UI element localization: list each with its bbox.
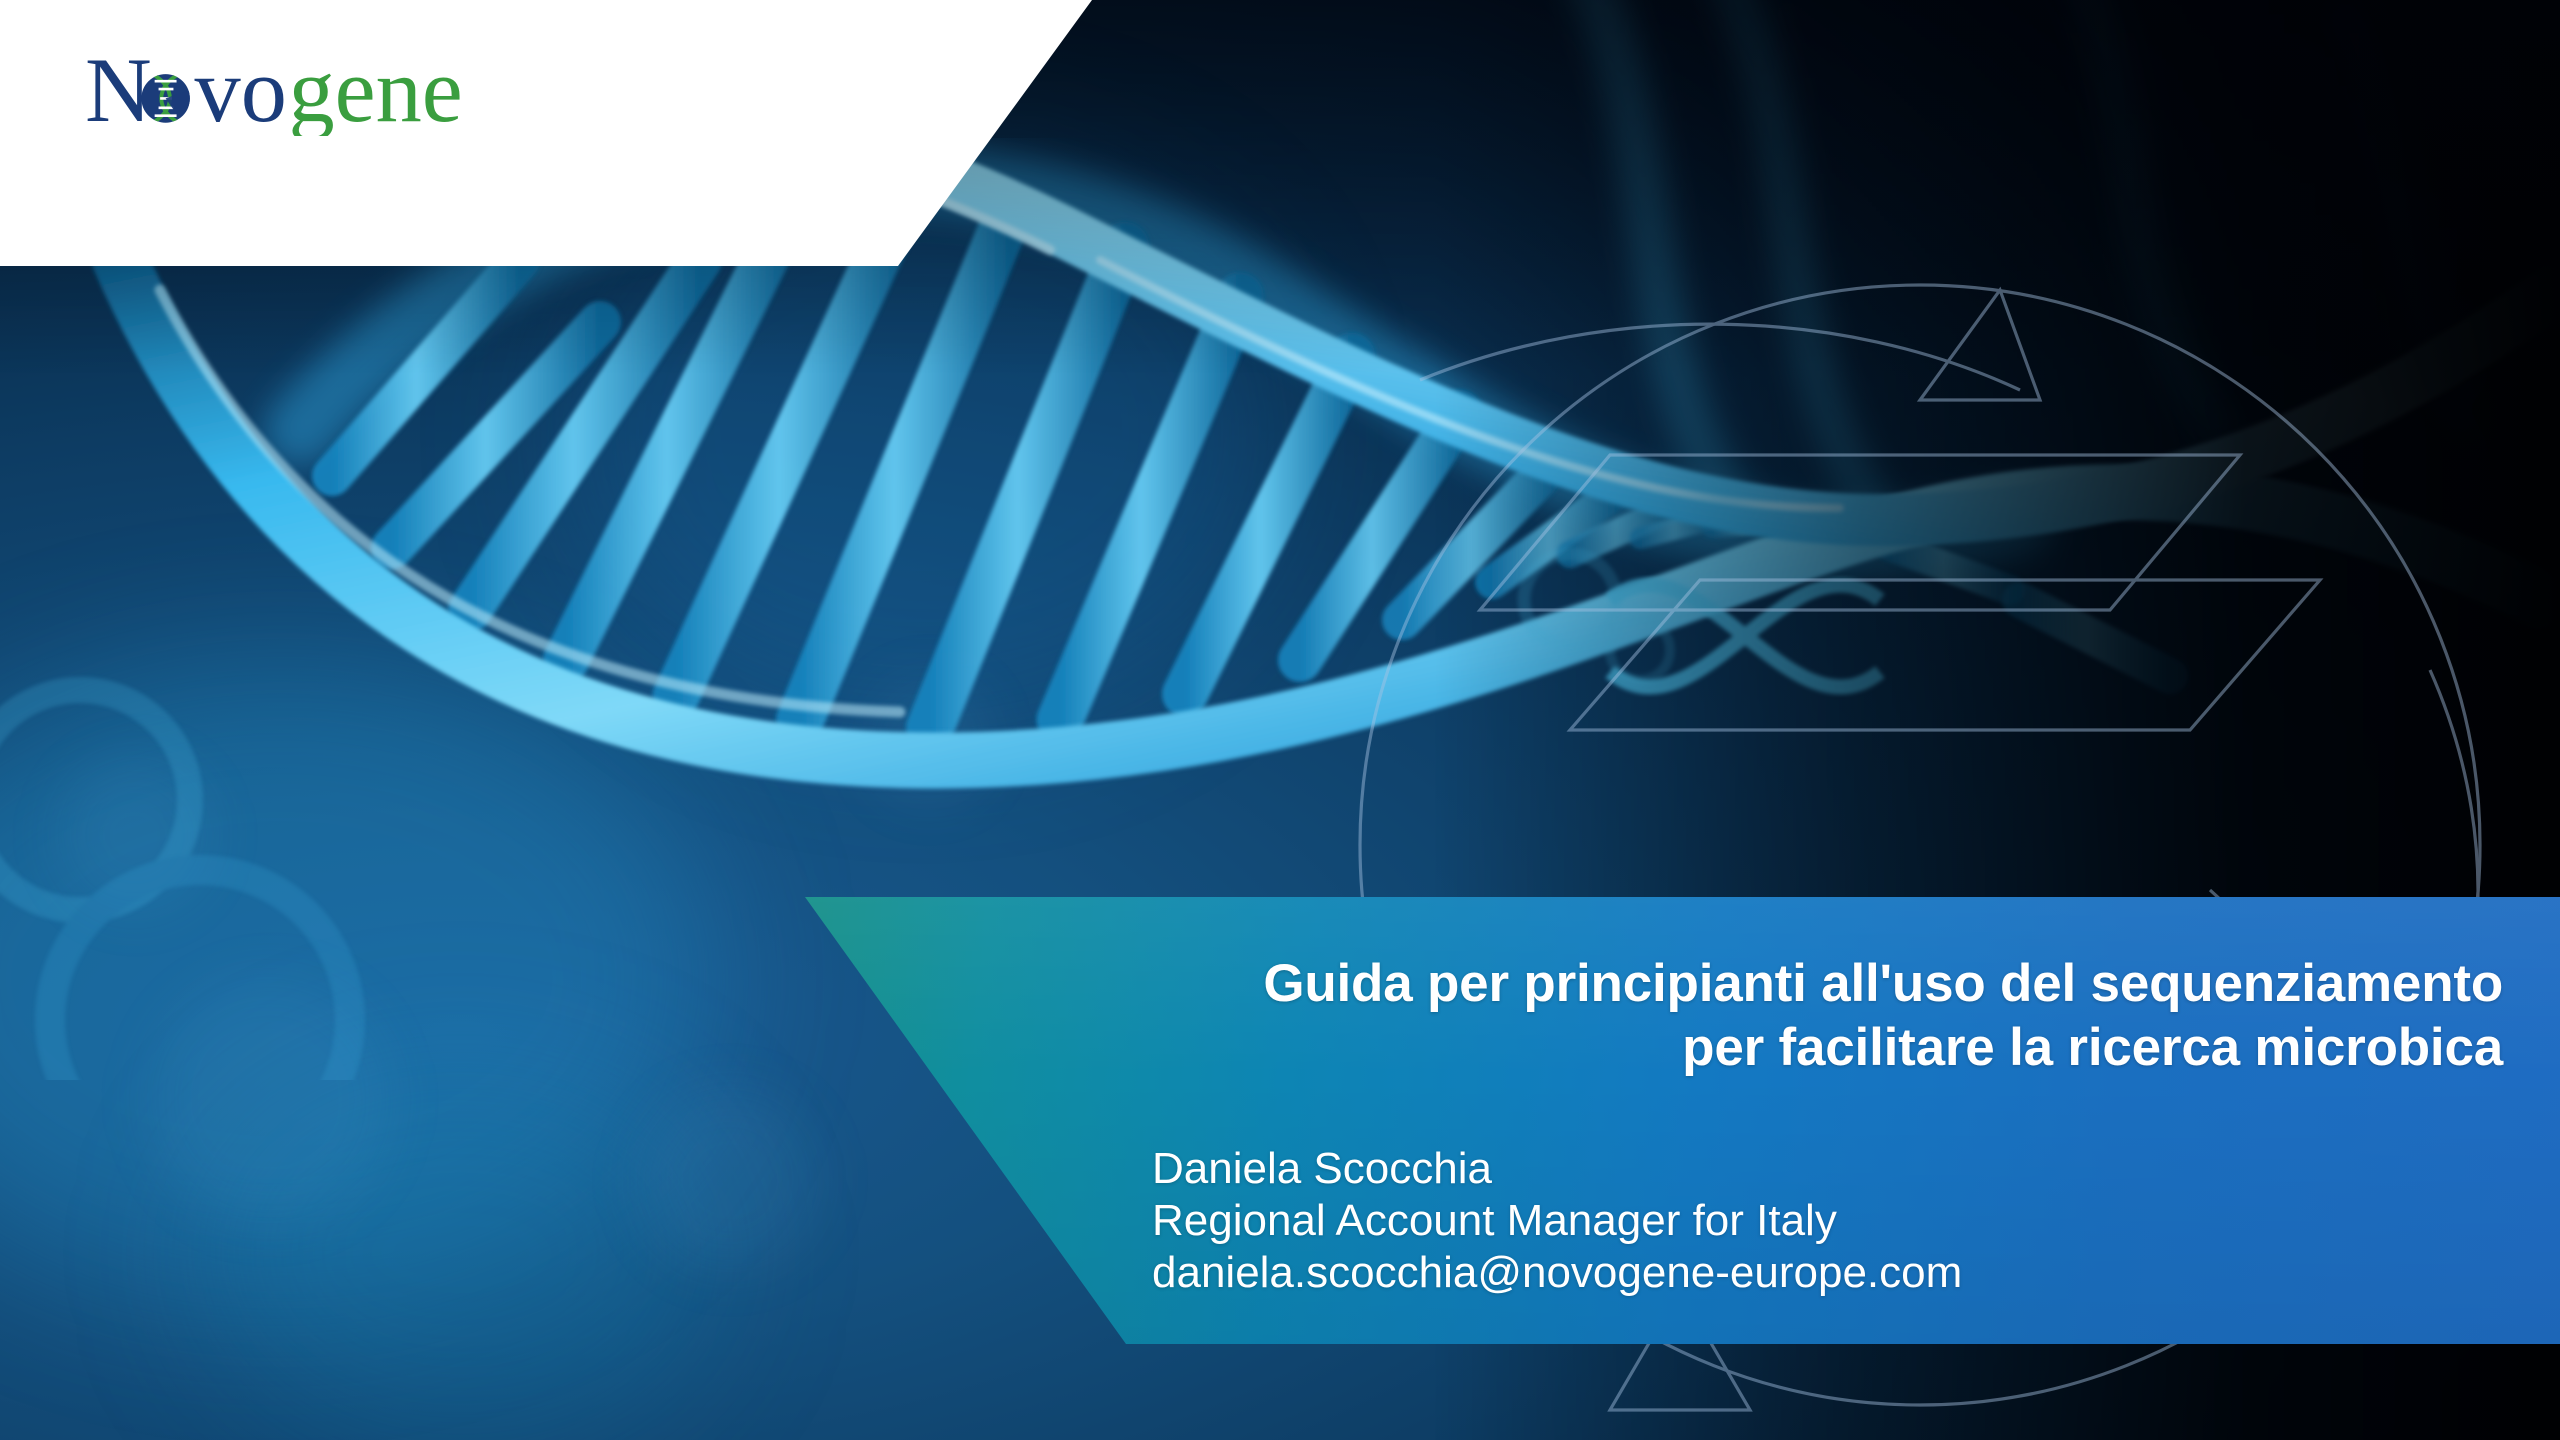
- presentation-title-slide: N: [0, 0, 2560, 1440]
- dna-helix-circle-icon: [141, 74, 191, 123]
- slide-title-line-2: per facilitare la ricerca microbica: [1100, 1016, 2503, 1080]
- logo-letters-gene: gene: [288, 46, 462, 136]
- bokeh-circle: [640, 1090, 820, 1270]
- presenter-email[interactable]: daniela.scocchia@novogene-europe.com: [1152, 1247, 2552, 1299]
- slide-title: Guida per principianti all'uso del seque…: [1100, 952, 2503, 1079]
- presenter-name: Daniela Scocchia: [1152, 1143, 2552, 1195]
- novogene-logo: N: [85, 46, 523, 136]
- logo-letter-n: N: [85, 46, 152, 136]
- logo-letters-vo: vo: [195, 46, 287, 136]
- presenter-role: Regional Account Manager for Italy: [1152, 1195, 2552, 1247]
- slide-title-line-1: Guida per principianti all'uso del seque…: [1100, 952, 2503, 1016]
- presenter-info: Daniela Scocchia Regional Account Manage…: [1152, 1143, 2552, 1299]
- novogene-logo-wordmark: N: [85, 46, 523, 136]
